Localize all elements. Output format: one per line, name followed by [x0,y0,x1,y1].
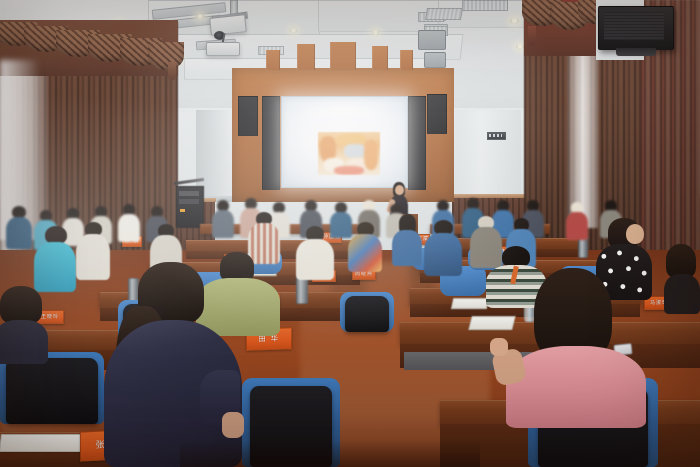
attendee-edge-right [664,244,700,314]
attendee-mid [296,226,334,280]
handout-paper [451,298,489,309]
downlight [510,18,519,24]
attendee-navy-top [104,262,242,467]
ceiling-speaker [424,52,446,68]
attendee-far [212,200,234,238]
av-rack-led [180,209,185,212]
attendee-mid [392,214,422,266]
valance-tassel [528,26,536,46]
attendee-far [566,202,588,240]
window-gap-right [568,28,598,228]
wall-column [455,110,521,202]
attendee-pink-top [506,268,646,428]
wall-speaker-grill [604,12,664,40]
stage-fin [330,42,356,70]
attendee-cyan-jacket [34,226,76,292]
ceiling-vent [462,0,508,11]
attendee-blue [424,220,462,276]
torso [0,320,48,364]
projector-housing [206,42,240,56]
attendee-far [6,206,32,248]
exit-wall-sign-glyphs [489,134,502,137]
ceiling-speaker [418,30,446,50]
conference-room-photo: 张苏萍 田 华 王晓玲 李建国 陈 敏 刘 洋 赵丽华 孙国强 周晓燕 吴秀兰 … [0,0,700,467]
hair [0,286,42,324]
torso [34,242,76,292]
ceiling-vent [425,8,463,20]
hair [666,244,696,278]
screen-glare [296,107,392,116]
torso [664,274,700,314]
arm-skin [222,412,244,438]
stage-speaker-right [427,94,447,134]
downlight [372,30,379,35]
wall-speaker-bracket [616,48,656,56]
downlight [290,28,297,33]
vacuum-flask [296,276,308,304]
attendee-edge-left [0,286,48,364]
stage-fin [266,50,280,70]
stage-fin [297,44,315,70]
presentation-slide [318,132,380,175]
av-rack-panel [179,191,199,196]
torso [506,346,646,428]
av-rack-panel [179,199,199,204]
head [626,224,644,244]
stage-fin [372,46,388,70]
stage-panel-inner-left [262,96,280,190]
projection-screen [281,96,408,188]
valance-tassel [168,62,176,80]
hand [490,338,508,356]
valance-swag [148,42,184,70]
chair-back [345,296,389,332]
stage-speaker-left [238,96,258,136]
chair-back [6,358,98,424]
downlight [196,14,204,19]
attendee-far [118,204,140,242]
stage-fin [400,50,413,70]
downlight [516,44,524,49]
handout-paper [0,434,83,452]
stage-panel-inner-right [408,96,426,190]
foreground-shadow [180,440,480,467]
attendee-colorful [348,222,382,272]
presenter-head [395,185,404,195]
